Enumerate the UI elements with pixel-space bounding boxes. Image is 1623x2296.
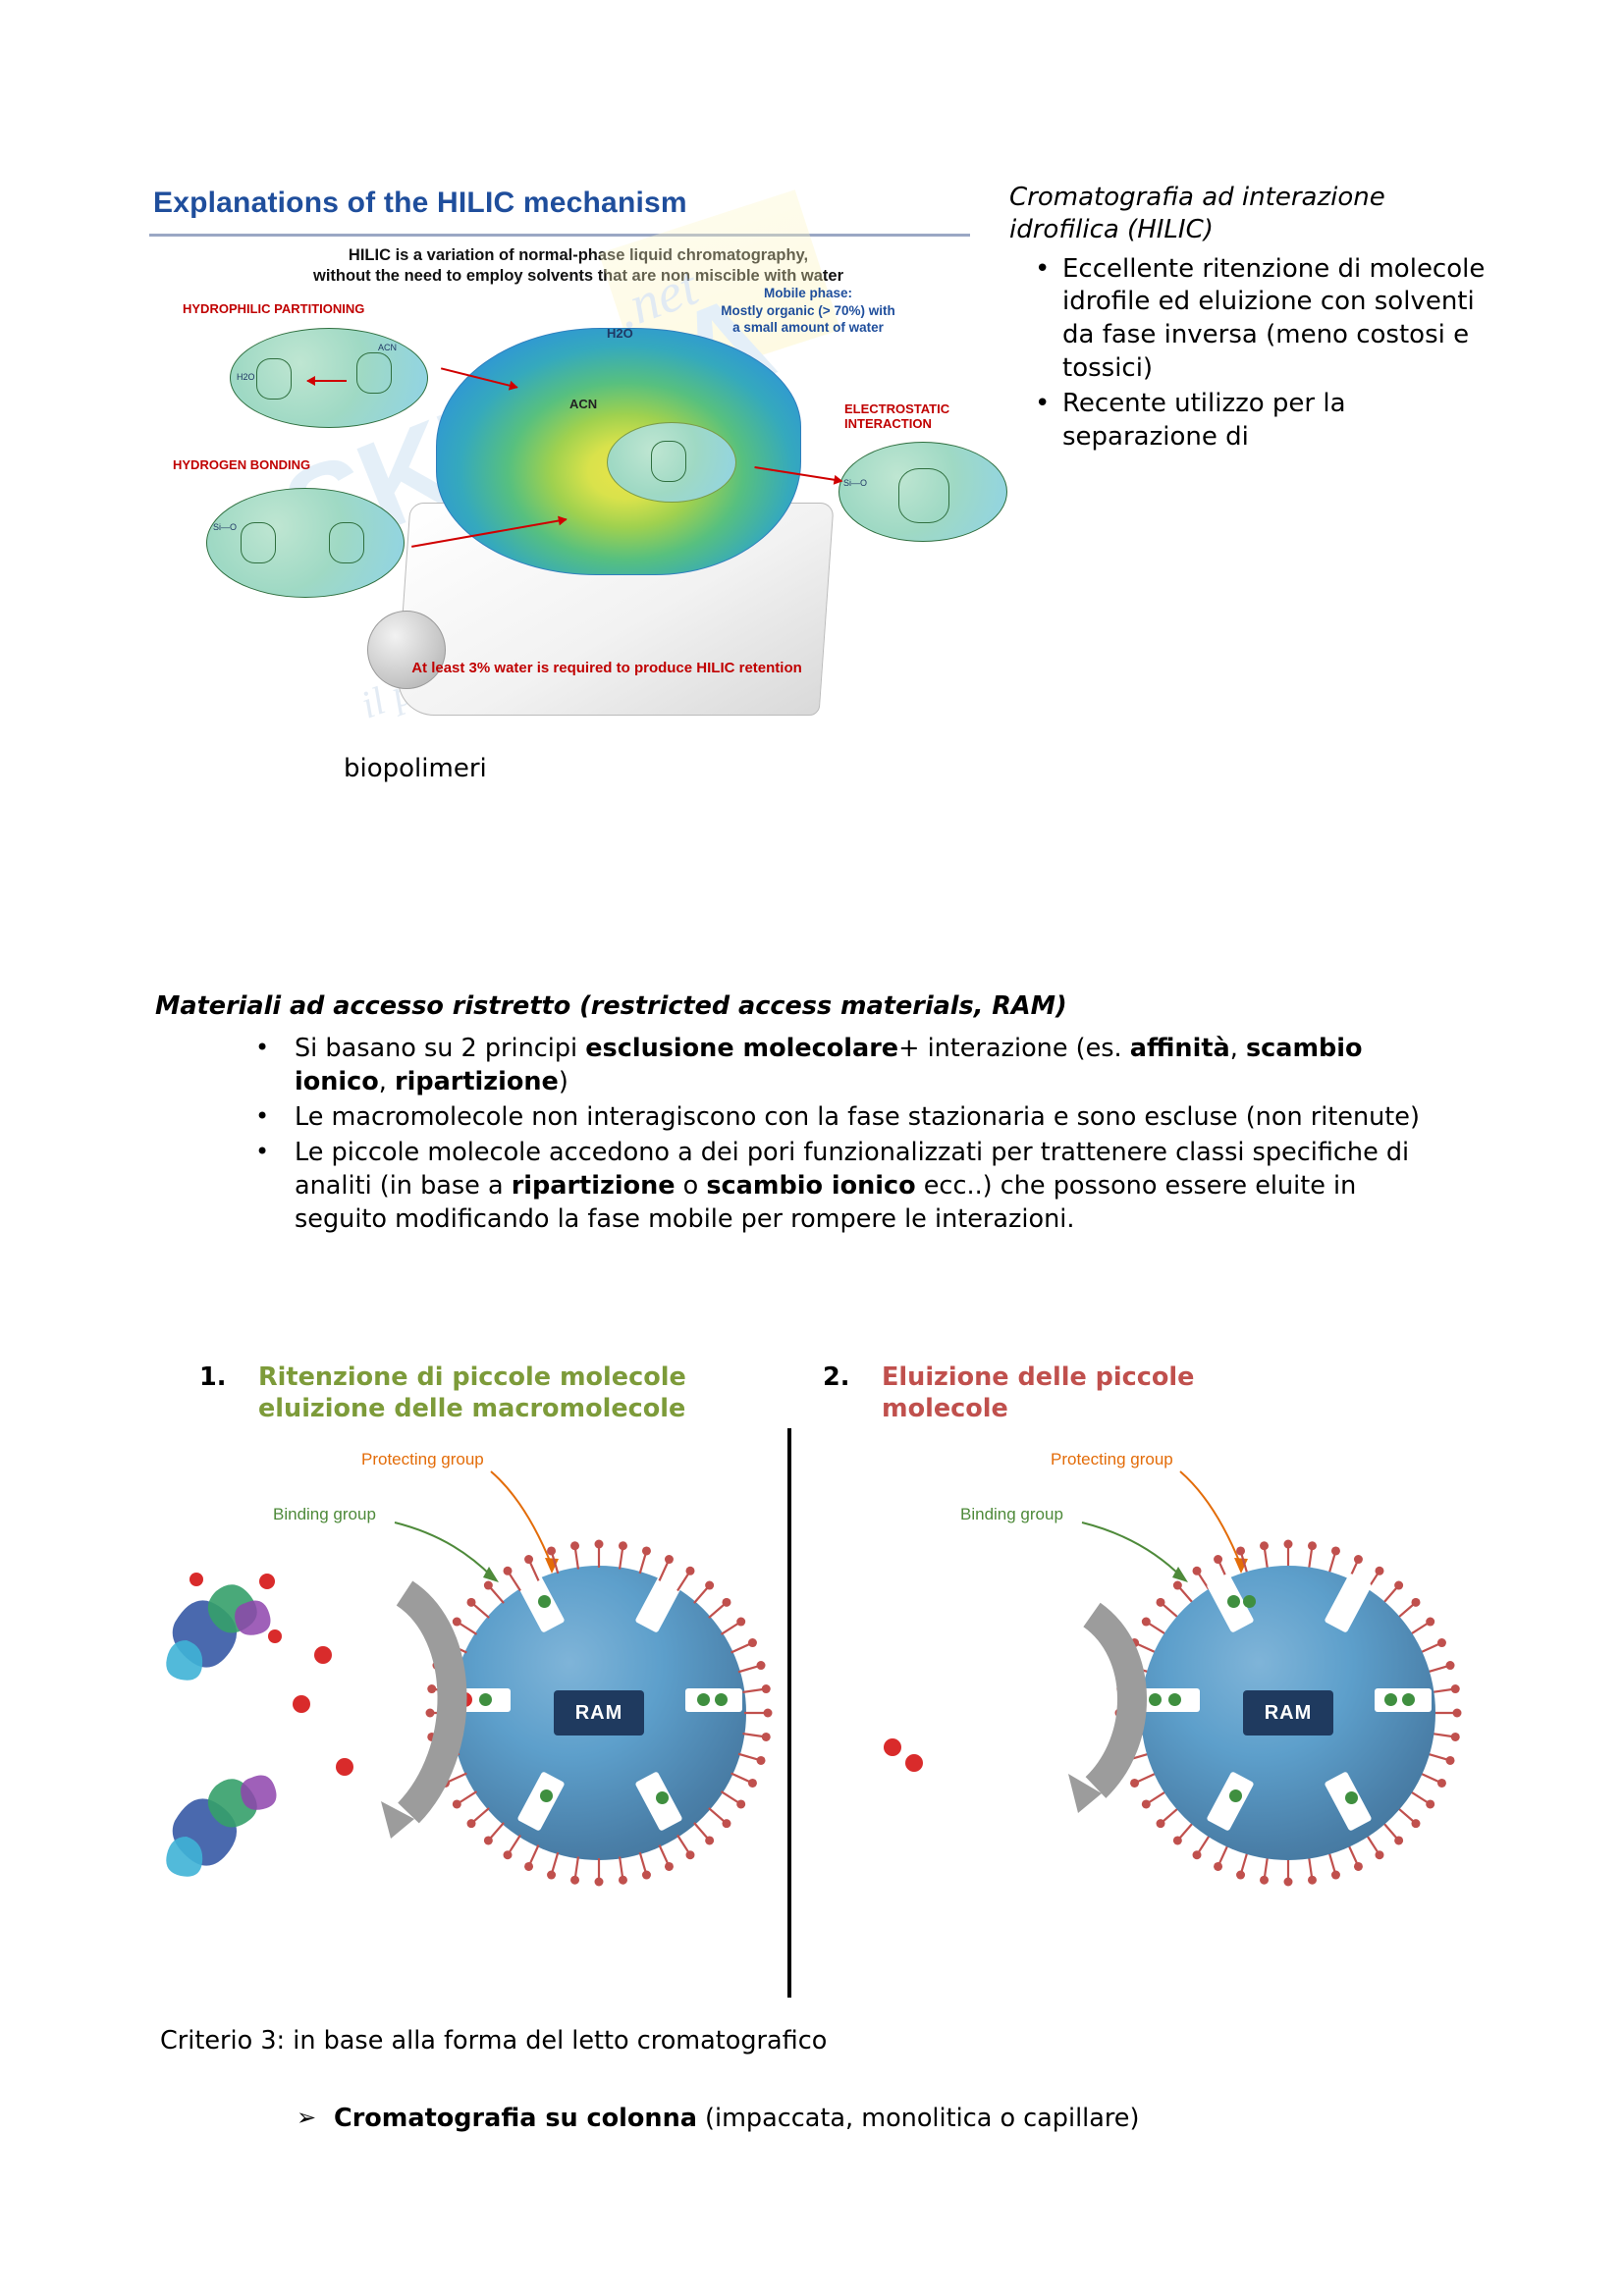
arrow-bullet-icon: ➢ [297, 2104, 316, 2131]
hilic-mechanism-figure: Explanations of the HILIC mechanism HILI… [145, 179, 990, 743]
body-text: , [379, 1067, 395, 1096]
ram-mechanism-figure: Protecting group Binding group RAM [147, 1428, 1483, 1998]
ram-panel-elution: Protecting group Binding group RAM [795, 1428, 1483, 1998]
document-page: Explanations of the HILIC mechanism HILI… [0, 0, 1623, 2296]
flow-arrow-icon [795, 1428, 1483, 1998]
body-text: , [1230, 1034, 1246, 1063]
emphasis-text: esclusione molecolare [585, 1034, 898, 1063]
list-item: Le macromolecole non interagiscono con l… [295, 1101, 1453, 1135]
ram-section-heading: Materiali ad accesso ristretto (restrict… [155, 991, 1067, 1021]
analyte-ring-icon [329, 522, 364, 563]
acn-tag: ACN [569, 397, 597, 411]
analyte-ring-icon [898, 468, 949, 523]
hilic-side-continuation: biopolimeri [344, 754, 487, 783]
emphasis-text: scambio ionico [706, 1171, 915, 1201]
caption-1-text: Ritenzione di piccole molecole eluizione… [258, 1362, 769, 1425]
hilic-side-title: Cromatografia ad interazione idrofilica … [1009, 182, 1490, 247]
body-text: o [676, 1171, 707, 1201]
colonna-line: ➢ Cromatografia su colonna (impaccata, m… [334, 2104, 1139, 2133]
criterio-line: Criterio 3: in base alla forma del letto… [160, 2026, 827, 2056]
silanol-label: Si—O [213, 522, 237, 532]
hilic-footer-note: At least 3% water is required to produce… [302, 660, 911, 676]
ram-bullet-list: Si basano su 2 principi esclusione molec… [295, 1033, 1453, 1238]
hydrophilic-partitioning-blob: H2O ACN [230, 328, 428, 428]
electrostatic-interaction-label: ELECTROSTATIC INTERACTION [844, 402, 949, 432]
water-tag: H2O [607, 326, 633, 341]
hilic-title-divider [149, 234, 970, 237]
list-item: Si basano su 2 principi esclusione molec… [295, 1033, 1453, 1099]
colonna-bold: Cromatografia su colonna [334, 2104, 697, 2133]
analyte-in-layer-blob [607, 422, 736, 503]
list-item: Eccellente ritenzione di molecole idrofi… [1062, 253, 1490, 386]
silanol-label: Si—O [843, 478, 867, 488]
hydrogen-bonding-blob: Si—O [206, 488, 405, 598]
electrostatic-interaction-blob: Si—O [839, 442, 1007, 542]
body-text: + interazione (es. [898, 1034, 1130, 1063]
ram-panel-retention: Protecting group Binding group RAM [147, 1428, 784, 1998]
flow-arrow-icon [147, 1428, 784, 1998]
hilic-figure-title: Explanations of the HILIC mechanism [153, 187, 687, 220]
body-text: ) [559, 1067, 568, 1096]
figure-divider [787, 1428, 791, 1998]
caption-2-text: Eluizione delle piccole molecole [882, 1362, 1294, 1425]
acn-small-label: ACN [378, 343, 397, 352]
caption-2-number: 2. [823, 1362, 849, 1392]
analyte-ring-icon [241, 522, 276, 563]
body-text: Si basano su 2 principi [295, 1034, 585, 1063]
mobile-phase-label: Mobile phase: Mostly organic (> 70%) wit… [676, 285, 941, 337]
hydrophilic-partitioning-label: HYDROPHILIC PARTITIONING [183, 302, 364, 317]
body-text: Le macromolecole non interagiscono con l… [295, 1102, 1420, 1132]
emphasis-text: affinità [1130, 1034, 1230, 1063]
hydrogen-bonding-label: HYDROGEN BONDING [173, 458, 310, 473]
caption-1-number: 1. [199, 1362, 226, 1392]
list-item: Recente utilizzo per la separazione di [1062, 388, 1490, 454]
hilic-side-text: Cromatografia ad interazione idrofilica … [1009, 182, 1490, 455]
analyte-ring-icon [256, 358, 292, 400]
silica-particle [367, 611, 446, 689]
hilic-side-bullet-list: Eccellente ritenzione di molecole idrofi… [1009, 253, 1490, 454]
analyte-ring-icon [356, 352, 392, 394]
analyte-ring-icon [651, 441, 686, 482]
water-small-label: H2O [237, 372, 255, 382]
partitioning-arrow-icon [307, 380, 347, 382]
hilic-figure-subtitle: HILIC is a variation of normal-phase liq… [190, 245, 966, 287]
list-item: Le piccole molecole accedono a dei pori … [295, 1137, 1453, 1237]
colonna-rest: (impaccata, monolitica o capillare) [697, 2104, 1139, 2133]
emphasis-text: ripartizione [512, 1171, 676, 1201]
emphasis-text: ripartizione [395, 1067, 559, 1096]
